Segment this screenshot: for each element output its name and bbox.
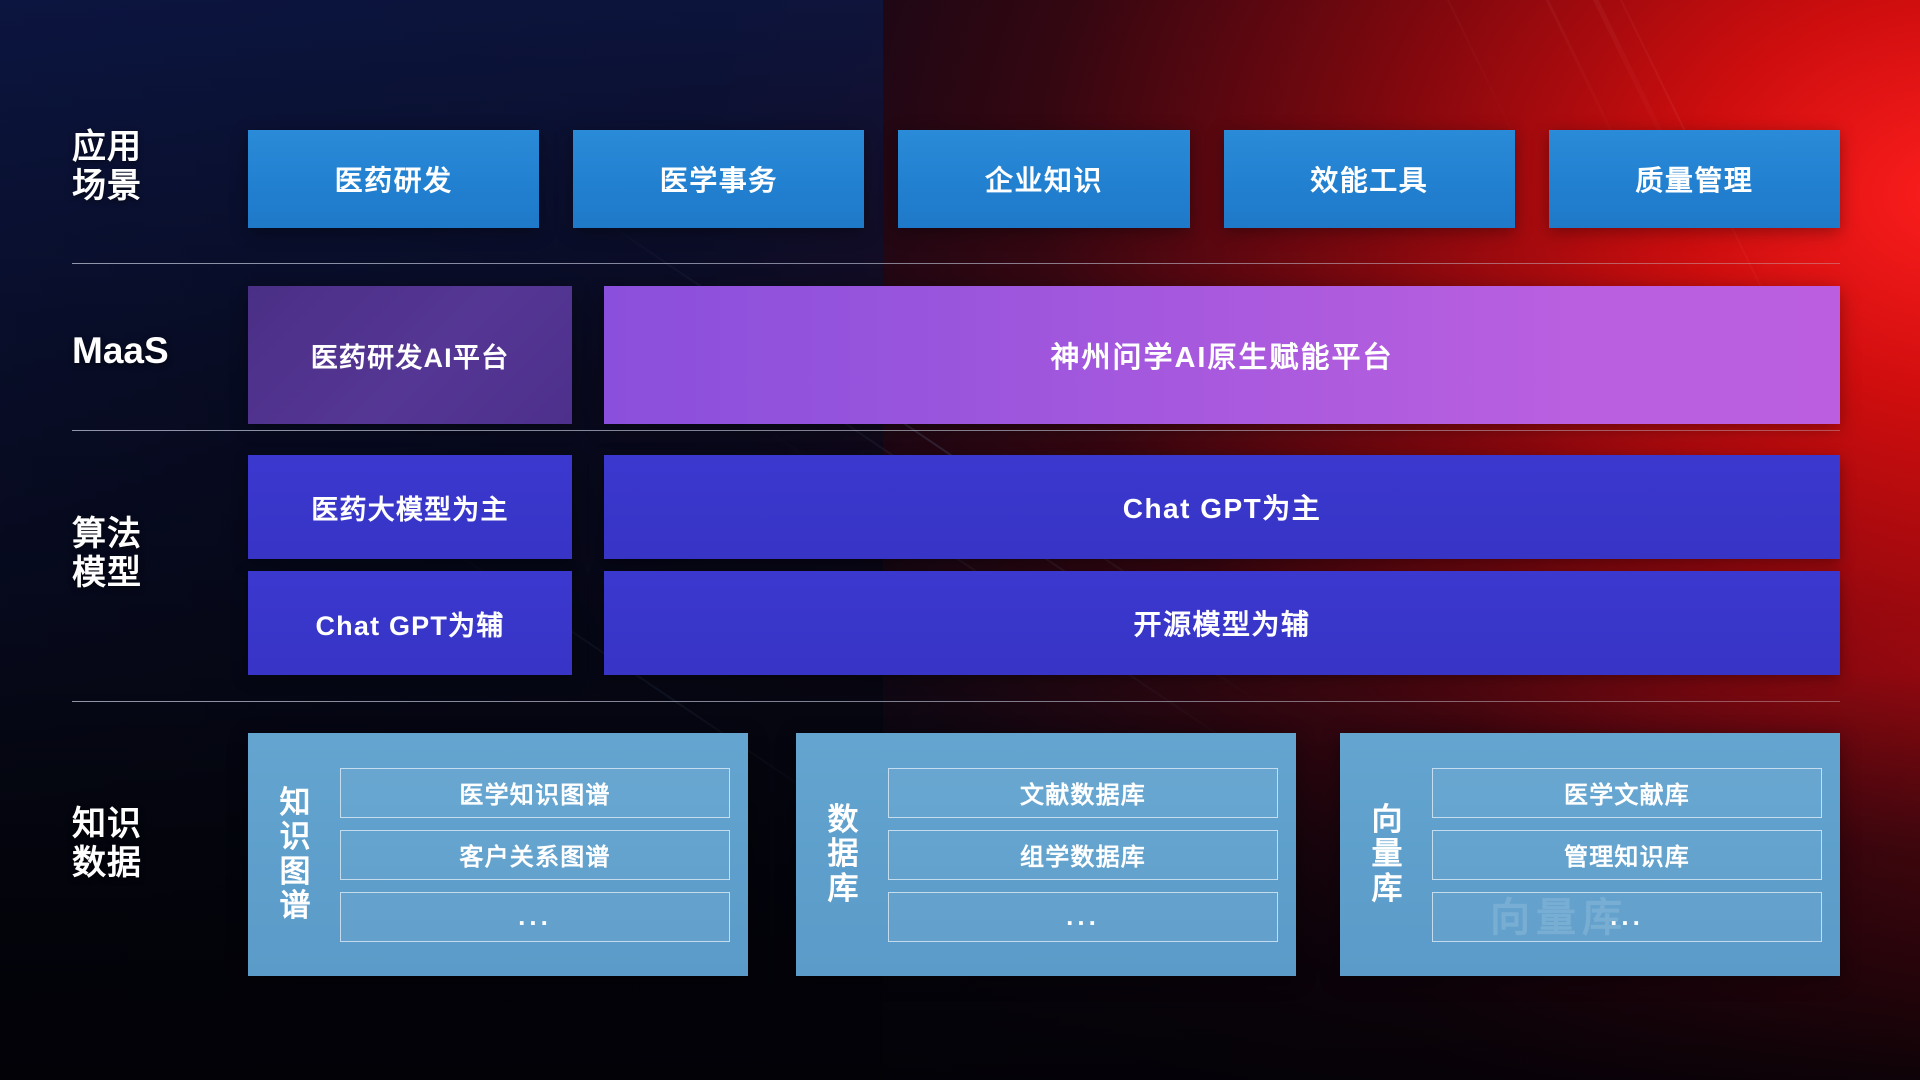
architecture-rows: 应用 场景 医药研发 医学事务 企业知识 效能工具 质量管理 MaaS 医药研发… bbox=[0, 0, 1920, 1080]
vertical-label-char: 量 bbox=[1372, 837, 1403, 871]
knowledge-group-vertical-label: 向 量 库 bbox=[1358, 749, 1416, 960]
knowledge-item-medical-literature-store[interactable]: 医学文献库 bbox=[1432, 768, 1822, 818]
knowledge-group-database[interactable]: 数 据 库 文献数据库 组学数据库 ... bbox=[796, 733, 1296, 976]
app-card-enterprise-knowledge[interactable]: 企业知识 bbox=[898, 130, 1189, 228]
app-card-label: 效能工具 bbox=[1310, 159, 1428, 199]
app-card-efficiency-tools[interactable]: 效能工具 bbox=[1224, 130, 1515, 228]
row-label-line: 应用 bbox=[72, 128, 222, 167]
knowledge-item-customer-relation-graph[interactable]: 客户关系图谱 bbox=[340, 830, 730, 880]
vertical-label-char: 向 bbox=[1372, 803, 1403, 837]
maas-card-label: 神州问学AI原生赋能平台 bbox=[1050, 334, 1393, 376]
knowledge-item-label: 文献数据库 bbox=[1020, 775, 1146, 810]
knowledge-item-label: ... bbox=[1066, 901, 1100, 932]
row-label-line: 场景 bbox=[72, 167, 222, 206]
algorithm-row-secondary: Chat GPT为辅 开源模型为辅 bbox=[248, 571, 1840, 675]
vertical-label-char: 图 bbox=[280, 855, 311, 889]
maas-card-list: 医药研发AI平台 神州问学AI原生赋能平台 bbox=[248, 286, 1840, 424]
algo-card-label: Chat GPT为主 bbox=[1123, 487, 1322, 527]
knowledge-item-list: 医学知识图谱 客户关系图谱 ... bbox=[340, 749, 730, 960]
app-card-label: 医药研发 bbox=[335, 159, 453, 199]
vertical-label-char: 知 bbox=[280, 786, 311, 820]
knowledge-item-literature-database[interactable]: 文献数据库 bbox=[888, 768, 1278, 818]
vertical-label-char: 识 bbox=[280, 820, 311, 854]
algo-card-opensource-secondary[interactable]: 开源模型为辅 bbox=[604, 571, 1840, 675]
knowledge-group-vertical-label: 知 识 图 谱 bbox=[266, 749, 324, 960]
vertical-label-char: 库 bbox=[1372, 872, 1403, 906]
vertical-label-char: 据 bbox=[828, 837, 859, 871]
algorithm-row-primary: 医药大模型为主 Chat GPT为主 bbox=[248, 455, 1840, 559]
knowledge-item-medical-knowledge-graph[interactable]: 医学知识图谱 bbox=[340, 768, 730, 818]
algo-card-chatgpt-primary[interactable]: Chat GPT为主 bbox=[604, 455, 1840, 559]
row-divider bbox=[72, 701, 1840, 702]
app-card-label: 质量管理 bbox=[1635, 159, 1753, 199]
knowledge-item-label: ... bbox=[1610, 901, 1644, 932]
knowledge-item-more[interactable]: ... bbox=[340, 892, 730, 942]
vertical-label-char: 谱 bbox=[280, 889, 311, 923]
maas-card-shenzhou-wenxue-platform[interactable]: 神州问学AI原生赋能平台 bbox=[604, 286, 1840, 424]
knowledge-item-label: ... bbox=[518, 901, 552, 932]
row-label-line: 知识 bbox=[72, 805, 222, 844]
knowledge-item-list: 文献数据库 组学数据库 ... bbox=[888, 749, 1278, 960]
row-label-line: MaaS bbox=[72, 330, 222, 373]
row-label-line: 数据 bbox=[72, 844, 222, 883]
row-label-algorithm-model: 算法 模型 bbox=[72, 515, 222, 594]
knowledge-item-label: 管理知识库 bbox=[1564, 837, 1690, 872]
knowledge-item-label: 医学文献库 bbox=[1564, 775, 1690, 810]
algo-card-label: 开源模型为辅 bbox=[1133, 603, 1310, 643]
knowledge-item-list: 医学文献库 管理知识库 ... bbox=[1432, 749, 1822, 960]
knowledge-item-omics-database[interactable]: 组学数据库 bbox=[888, 830, 1278, 880]
application-card-list: 医药研发 医学事务 企业知识 效能工具 质量管理 bbox=[248, 130, 1840, 228]
knowledge-group-knowledge-graph[interactable]: 知 识 图 谱 医学知识图谱 客户关系图谱 ... bbox=[248, 733, 748, 976]
maas-card-label: 医药研发AI平台 bbox=[311, 336, 510, 375]
row-divider bbox=[72, 263, 1840, 264]
app-card-label: 医学事务 bbox=[660, 159, 778, 199]
maas-card-medicine-ai-platform[interactable]: 医药研发AI平台 bbox=[248, 286, 572, 424]
row-label-application-scenarios: 应用 场景 bbox=[72, 128, 222, 207]
row-label-maas: MaaS bbox=[72, 330, 222, 373]
app-card-medicine-rnd[interactable]: 医药研发 bbox=[248, 130, 539, 228]
app-card-label: 企业知识 bbox=[985, 159, 1103, 199]
row-divider bbox=[72, 430, 1840, 431]
diagram-canvas: 应用 场景 医药研发 医学事务 企业知识 效能工具 质量管理 MaaS 医药研发… bbox=[0, 0, 1920, 1080]
vertical-label-char: 库 bbox=[828, 872, 859, 906]
row-label-line: 模型 bbox=[72, 554, 222, 593]
row-label-knowledge-data: 知识 数据 bbox=[72, 805, 222, 884]
algo-card-label: 医药大模型为主 bbox=[311, 488, 508, 527]
algo-card-label: Chat GPT为辅 bbox=[315, 604, 504, 643]
knowledge-group-vertical-label: 数 据 库 bbox=[814, 749, 872, 960]
knowledge-item-label: 客户关系图谱 bbox=[459, 837, 610, 872]
algo-card-medicine-llm-primary[interactable]: 医药大模型为主 bbox=[248, 455, 572, 559]
knowledge-item-management-knowledge-store[interactable]: 管理知识库 bbox=[1432, 830, 1822, 880]
knowledge-item-more[interactable]: ... bbox=[888, 892, 1278, 942]
knowledge-item-more[interactable]: ... bbox=[1432, 892, 1822, 942]
app-card-medical-affairs[interactable]: 医学事务 bbox=[573, 130, 864, 228]
knowledge-item-label: 组学数据库 bbox=[1020, 837, 1146, 872]
vertical-label-char: 数 bbox=[828, 803, 859, 837]
knowledge-group-vector-store[interactable]: 向量库 向 量 库 医学文献库 管理知识库 ... bbox=[1340, 733, 1840, 976]
knowledge-item-label: 医学知识图谱 bbox=[459, 775, 610, 810]
algo-card-chatgpt-secondary[interactable]: Chat GPT为辅 bbox=[248, 571, 572, 675]
row-label-line: 算法 bbox=[72, 515, 222, 554]
app-card-quality-management[interactable]: 质量管理 bbox=[1549, 130, 1840, 228]
